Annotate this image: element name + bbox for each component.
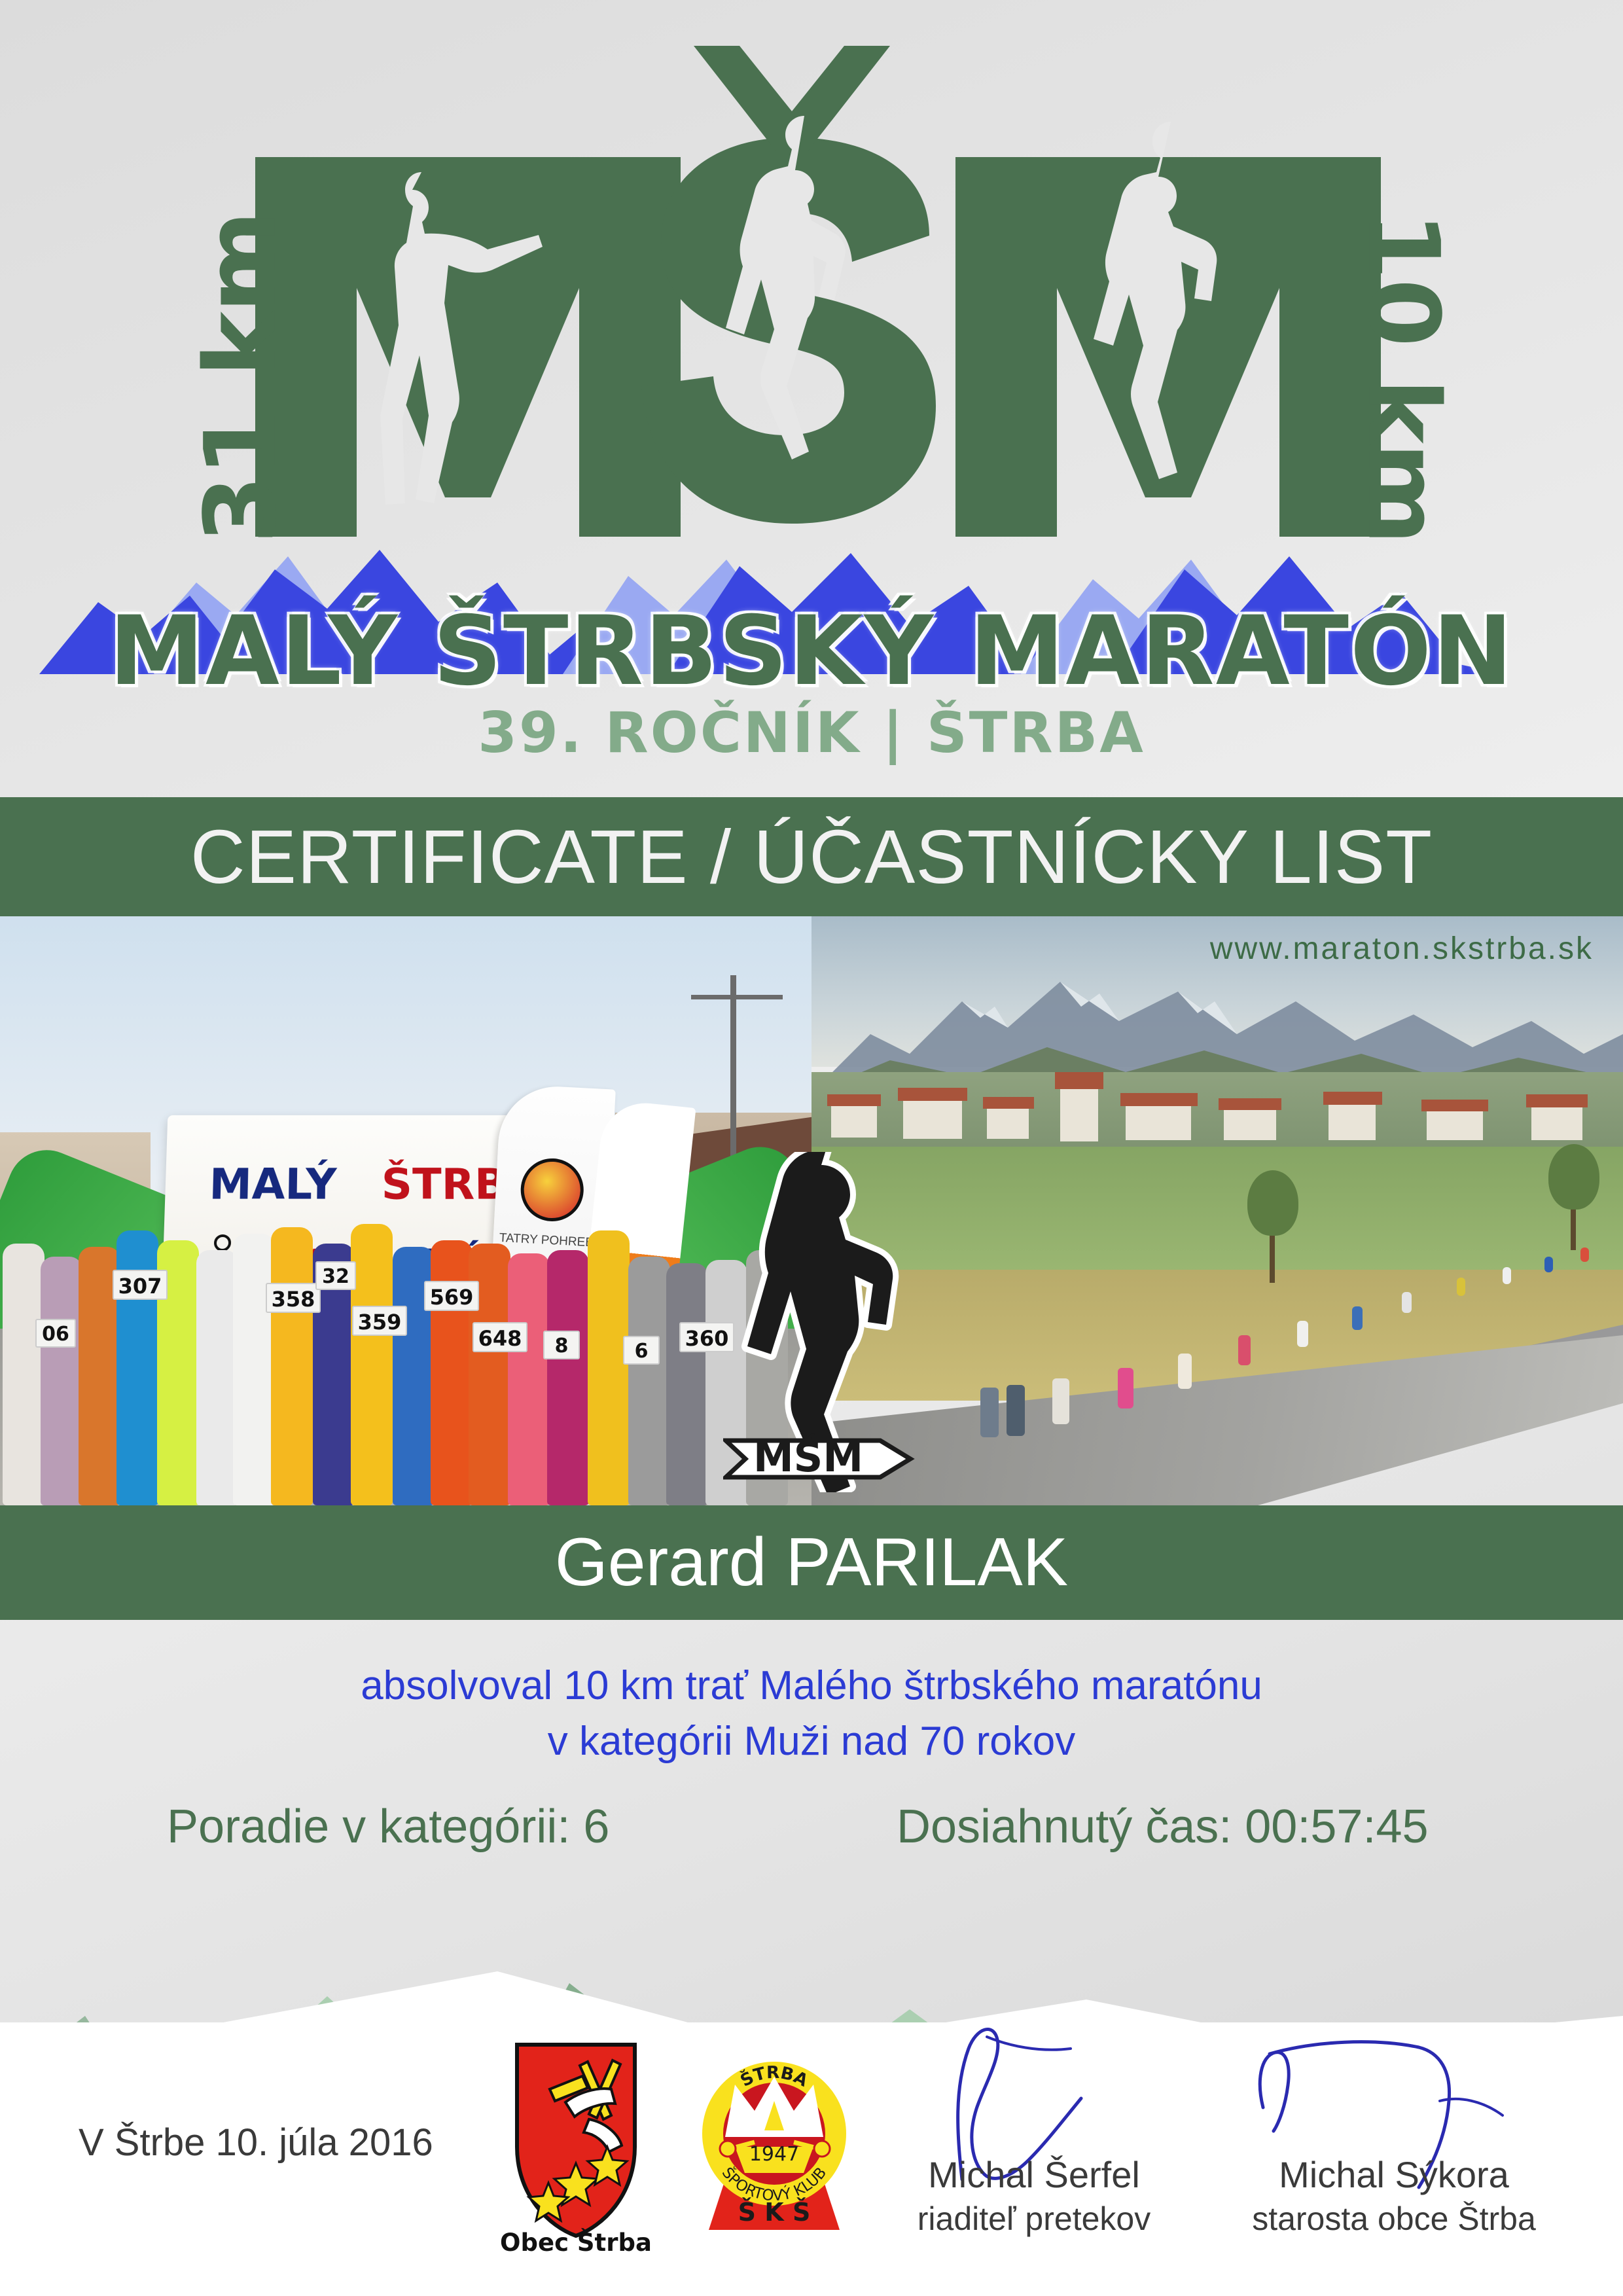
- website-url[interactable]: www.maraton.skstrba.sk: [1210, 931, 1594, 967]
- msm-runner-sign: MŠM: [723, 1152, 939, 1492]
- distant-runner: [1118, 1368, 1133, 1408]
- distant-runner: [1580, 1247, 1589, 1262]
- signature-name: Michal Šerfel: [851, 2153, 1217, 2196]
- house-roof: [827, 1094, 881, 1106]
- runner-bib: 359: [352, 1306, 407, 1336]
- description-line-1: absolvoval 10 km trať Malého štrbského m…: [0, 1662, 1623, 1709]
- runner: [588, 1230, 630, 1505]
- house-roof: [898, 1088, 967, 1101]
- category-rank: Poradie v kategórii: 6: [167, 1800, 609, 1854]
- msm-wordmark: [216, 39, 1420, 524]
- runner: [351, 1224, 393, 1505]
- runner: [547, 1250, 589, 1505]
- house: [1126, 1103, 1191, 1140]
- tree: [1270, 1224, 1275, 1283]
- house: [831, 1103, 877, 1138]
- finish-time: Dosiahnutý čas: 00:57:45: [897, 1800, 1429, 1854]
- arch-line1-a: MALÝ: [209, 1160, 337, 1210]
- photo-strip: MALÝ ŠTRBSKÝ MARATÓN MŠM MŠM: [0, 916, 1623, 1505]
- signature-role: starosta obce Štrba: [1211, 2200, 1577, 2238]
- runner: [196, 1250, 238, 1505]
- crest-label: Obec Štrba: [497, 2229, 654, 2257]
- spectator: [1007, 1385, 1025, 1436]
- house-roof: [1323, 1092, 1382, 1105]
- runner-bib: 307: [113, 1270, 168, 1300]
- page-title: MALÝ ŠTRBSKÝ MARATÓN: [0, 596, 1623, 707]
- house: [1427, 1109, 1483, 1140]
- issue-date: V Štrbe 10. júla 2016: [79, 2121, 433, 2164]
- house: [1531, 1105, 1582, 1140]
- runner-bib: 6: [623, 1336, 660, 1365]
- runner: [666, 1263, 708, 1505]
- signature-name: Michal Sýkora: [1211, 2153, 1577, 2196]
- page-subtitle: 39. ROČNÍK | ŠTRBA: [0, 700, 1623, 766]
- runner-bib: 06: [35, 1319, 76, 1348]
- runner-bib: 569: [424, 1281, 479, 1311]
- distance-badge-right: 10 km: [1346, 211, 1460, 543]
- msm-sign-label: MŠM: [753, 1433, 863, 1481]
- distant-runner: [1544, 1257, 1553, 1272]
- distant-runner: [1052, 1378, 1069, 1424]
- runner: [41, 1257, 82, 1505]
- runner-bib: 648: [473, 1322, 527, 1352]
- sponsor-emblem-icon: [519, 1157, 585, 1223]
- description-line-2: v kategórii Muži nad 70 rokov: [0, 1718, 1623, 1765]
- distant-runner: [1457, 1278, 1465, 1296]
- signature-block-mayor: Michal Sýkora starosta obce Štrba: [1211, 2153, 1577, 2238]
- runner: [233, 1234, 275, 1505]
- runner-crowd: 307 358 32 359 569 648 8 6 360 06: [0, 1221, 811, 1505]
- sks-year: 1947: [749, 2143, 799, 2166]
- church-roof: [1055, 1072, 1103, 1089]
- participant-name: Gerard PARILAK: [555, 1524, 1068, 1602]
- house-roof: [1120, 1093, 1198, 1106]
- distant-runner: [1503, 1267, 1511, 1284]
- runner: [271, 1227, 313, 1505]
- certificate-page: 31 km 10 km MALÝ ŠTRBSKÝ MARATÓN 39. ROČ…: [0, 0, 1623, 2296]
- house-roof: [1421, 1100, 1488, 1111]
- distance-badge-left: 31 km: [185, 211, 298, 543]
- participant-name-banner: Gerard PARILAK: [0, 1505, 1623, 1620]
- msm-letters-svg: [216, 39, 1420, 537]
- photo-start-line: MALÝ ŠTRBSKÝ MARATÓN MŠM MŠM: [0, 916, 811, 1505]
- distant-runner: [1352, 1306, 1363, 1330]
- signature-role: riaditeľ pretekov: [851, 2200, 1217, 2238]
- distant-runner: [1178, 1354, 1192, 1389]
- sks-bottom-text: Š K Š: [738, 2198, 811, 2227]
- distant-runner: [1297, 1321, 1308, 1347]
- house-roof: [1526, 1094, 1588, 1107]
- utility-pole: [730, 975, 736, 1158]
- runner-bib: 8: [543, 1331, 580, 1359]
- house: [903, 1098, 962, 1139]
- house-roof: [983, 1097, 1034, 1109]
- distant-runner: [1238, 1335, 1251, 1365]
- runner: [508, 1253, 550, 1505]
- distant-runner: [1402, 1292, 1412, 1313]
- header-section: 31 km 10 km MALÝ ŠTRBSKÝ MARATÓN 39. ROČ…: [0, 0, 1623, 795]
- village-strip: [811, 1072, 1623, 1157]
- sks-club-logo-icon: 1947 ŠTRBA ŠPORTOVÝ KLUB Š K Š: [699, 2039, 849, 2235]
- house: [1329, 1102, 1376, 1140]
- runner: [3, 1244, 45, 1505]
- obec-strba-crest-icon: [510, 2042, 641, 2238]
- runner-bib: 32: [315, 1261, 356, 1290]
- signature-block-director: Michal Šerfel riaditeľ pretekov: [851, 2153, 1217, 2238]
- msm-logo: 31 km 10 km: [216, 39, 1420, 615]
- certificate-banner: CERTIFICATE / ÚČASTNÍCKY LIST: [0, 797, 1623, 916]
- certificate-banner-label: CERTIFICATE / ÚČASTNÍCKY LIST: [190, 813, 1433, 901]
- house-roof: [1219, 1098, 1281, 1110]
- tree: [1571, 1198, 1576, 1250]
- church: [1060, 1085, 1098, 1141]
- runner: [431, 1240, 473, 1505]
- house: [1224, 1107, 1276, 1140]
- runner: [628, 1257, 670, 1505]
- runner-bib: 358: [266, 1283, 321, 1313]
- spectator: [980, 1388, 999, 1437]
- house: [987, 1106, 1029, 1139]
